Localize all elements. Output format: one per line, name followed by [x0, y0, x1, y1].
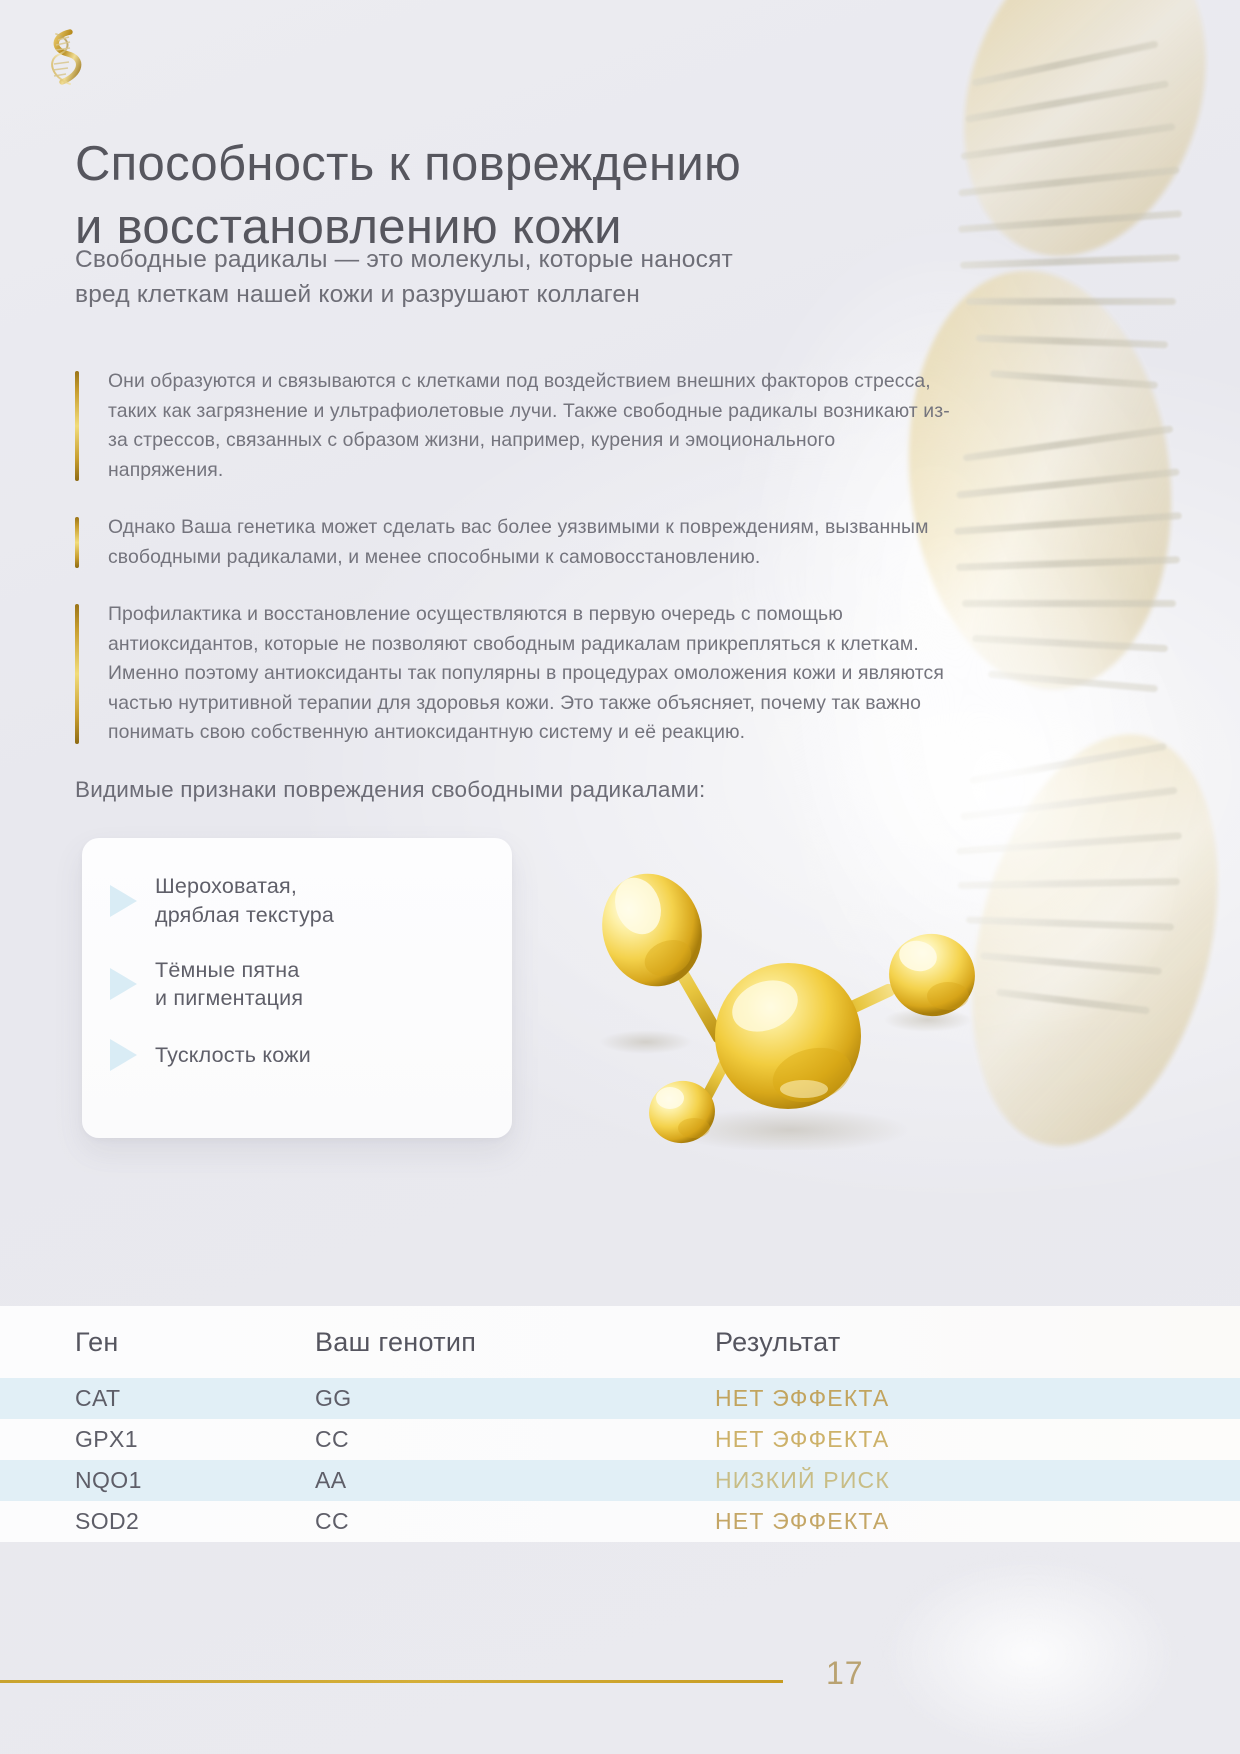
table-row: NQO1 AA НИЗКИЙ РИСК	[0, 1460, 1240, 1501]
paragraph-text: Они образуются и связываются с клетками …	[108, 367, 955, 485]
page-subtitle: Свободные радикалы — это молекулы, котор…	[75, 243, 955, 313]
gold-accent-bar	[75, 517, 79, 568]
genotype-table: Ген Ваш генотип Результат CAT GG НЕТ ЭФФ…	[0, 1306, 1240, 1542]
page-title-line-1: Способность к повреждению	[75, 137, 741, 191]
cell-gene: GPX1	[0, 1426, 315, 1453]
page-subtitle-line-2: вред клеткам нашей кожи и разрушают колл…	[75, 281, 640, 308]
visible-signs-heading: Видимые признаки повреждения свободными …	[75, 777, 706, 803]
paragraph-block: Профилактика и восстановление осуществля…	[75, 600, 955, 747]
list-item: Тусклость кожи	[110, 1039, 492, 1071]
table-row: GPX1 CC НЕТ ЭФФЕКТА	[0, 1419, 1240, 1460]
page-number: 17	[826, 1655, 864, 1692]
cell-gene: NQO1	[0, 1467, 315, 1494]
gold-accent-bar	[75, 371, 79, 481]
column-header-genotype: Ваш генотип	[315, 1327, 715, 1358]
paragraph-block: Они образуются и связываются с клетками …	[75, 367, 955, 485]
paragraph-blocks: Они образуются и связываются с клетками …	[75, 348, 955, 767]
gold-molecule-illustration	[560, 830, 1020, 1150]
cell-result: НЕТ ЭФФЕКТА	[715, 1508, 1240, 1535]
footer-gold-rule	[0, 1680, 783, 1683]
cell-gene: CAT	[0, 1385, 315, 1412]
triangle-right-icon	[110, 1039, 137, 1071]
page-subtitle-line-1: Свободные радикалы — это молекулы, котор…	[75, 246, 733, 273]
list-item-label: Тёмные пятнаи пигментация	[155, 956, 303, 1014]
cell-result: НИЗКИЙ РИСК	[715, 1467, 1240, 1494]
triangle-right-icon	[110, 885, 137, 917]
list-item-label: Тусклость кожи	[155, 1041, 311, 1070]
column-header-result: Результат	[715, 1327, 1240, 1358]
list-item: Шероховатая,дряблая текстура	[110, 872, 492, 930]
paragraph-text: Однако Ваша генетика может сделать вас б…	[108, 513, 955, 572]
cell-gene: SOD2	[0, 1508, 315, 1535]
page-title: Способность к повреждению и восстановлен…	[75, 133, 975, 258]
triangle-right-icon	[110, 968, 137, 1000]
visible-signs-card: Шероховатая,дряблая текстура Тёмные пятн…	[82, 838, 512, 1138]
footer-background-smudge	[880, 1554, 1180, 1754]
cell-genotype: CC	[315, 1426, 715, 1453]
table-row: CAT GG НЕТ ЭФФЕКТА	[0, 1378, 1240, 1419]
cell-genotype: GG	[315, 1385, 715, 1412]
cell-result: НЕТ ЭФФЕКТА	[715, 1426, 1240, 1453]
column-header-gene: Ген	[0, 1327, 315, 1358]
dna-helix-icon	[40, 24, 86, 92]
list-item-label: Шероховатая,дряблая текстура	[155, 872, 334, 930]
cell-result: НЕТ ЭФФЕКТА	[715, 1385, 1240, 1412]
table-row: SOD2 CC НЕТ ЭФФЕКТА	[0, 1501, 1240, 1542]
report-page: Способность к повреждению и восстановлен…	[0, 0, 1240, 1754]
table-header-row: Ген Ваш генотип Результат	[0, 1306, 1240, 1378]
visible-signs-list: Шероховатая,дряблая текстура Тёмные пятн…	[110, 872, 492, 1071]
gold-accent-bar	[75, 604, 79, 743]
cell-genotype: CC	[315, 1508, 715, 1535]
list-item: Тёмные пятнаи пигментация	[110, 956, 492, 1014]
paragraph-block: Однако Ваша генетика может сделать вас б…	[75, 513, 955, 572]
paragraph-text: Профилактика и восстановление осуществля…	[108, 600, 955, 747]
cell-genotype: AA	[315, 1467, 715, 1494]
